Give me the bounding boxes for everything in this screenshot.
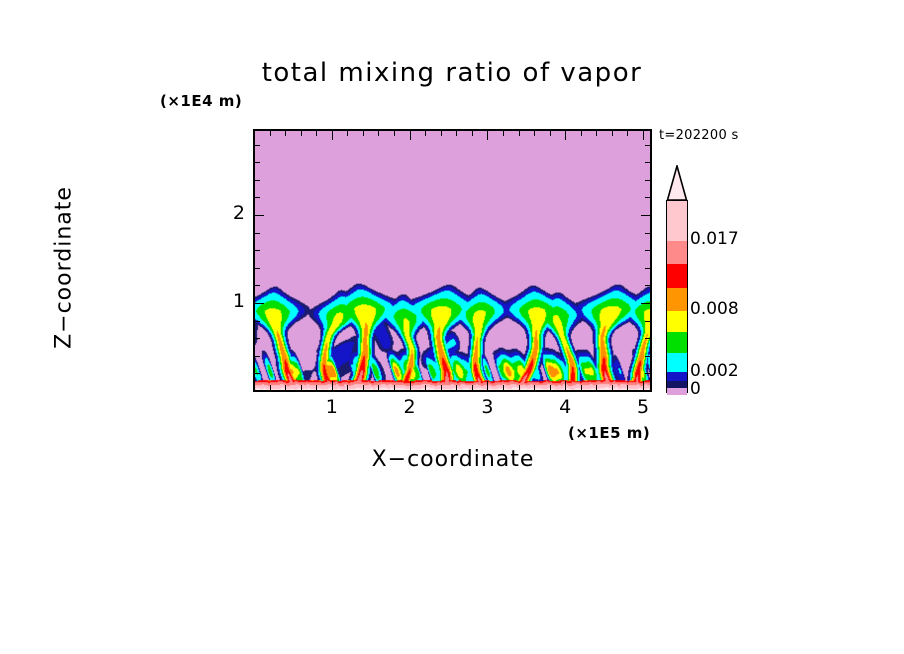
x-minor-tick-bottom <box>627 385 628 390</box>
x-major-tick-bottom <box>410 381 411 390</box>
colorbar-band-0.011-0.014 <box>667 241 687 265</box>
x-minor-tick-bottom <box>378 385 379 390</box>
y-minor-tick-right <box>645 321 650 322</box>
y-axis-unit-label: (×1E4 m) <box>160 92 242 110</box>
y-minor-tick-right <box>645 285 650 286</box>
y-minor-tick-left <box>255 145 260 146</box>
colorbar-band-0.004-0.006 <box>667 311 687 333</box>
colorbar-tick-label: 0 <box>690 379 701 399</box>
x-minor-tick-top <box>550 131 551 136</box>
x-major-tick-bottom <box>487 381 488 390</box>
y-minor-tick-left <box>255 250 260 251</box>
x-minor-tick-top <box>378 131 379 136</box>
y-axis-title: Z−coordinate <box>52 158 77 378</box>
y-minor-tick-left <box>255 197 260 198</box>
x-minor-tick-bottom <box>363 385 364 390</box>
x-minor-tick-bottom <box>394 385 395 390</box>
y-minor-tick-right <box>645 233 650 234</box>
y-major-tick-left <box>255 303 264 304</box>
x-tick-label: 1 <box>320 396 344 418</box>
x-minor-tick-bottom <box>347 385 348 390</box>
colorbar-bands <box>666 200 688 393</box>
timestamp-annotation: t=202200 s <box>659 128 739 143</box>
x-major-tick-top <box>487 131 488 140</box>
x-minor-tick-bottom <box>534 385 535 390</box>
colorbar <box>666 165 688 393</box>
x-minor-tick-bottom <box>425 385 426 390</box>
x-tick-label: 5 <box>631 396 655 418</box>
colorbar-band-0.014-0.017 <box>667 201 687 242</box>
x-major-tick-bottom <box>643 381 644 390</box>
x-minor-tick-top <box>441 131 442 136</box>
x-minor-tick-top <box>363 131 364 136</box>
x-minor-tick-top <box>270 131 271 136</box>
y-minor-tick-right <box>645 373 650 374</box>
y-minor-tick-left <box>255 321 260 322</box>
x-axis-unit-label: (×1E5 m) <box>568 424 650 442</box>
x-major-tick-bottom <box>565 381 566 390</box>
y-minor-tick-left <box>255 338 260 339</box>
y-minor-tick-left <box>255 162 260 163</box>
colorbar-band-0.006-0.008 <box>667 288 687 312</box>
y-minor-tick-left <box>255 233 260 234</box>
x-minor-tick-top <box>301 131 302 136</box>
y-major-tick-right <box>641 303 650 304</box>
x-minor-tick-top <box>534 131 535 136</box>
y-minor-tick-right <box>645 268 650 269</box>
x-major-tick-top <box>565 131 566 140</box>
x-tick-label: 3 <box>475 396 499 418</box>
y-minor-tick-right <box>645 356 650 357</box>
x-minor-tick-bottom <box>441 385 442 390</box>
y-minor-tick-left <box>255 180 260 181</box>
y-minor-tick-right <box>645 145 650 146</box>
y-minor-tick-right <box>645 338 650 339</box>
y-major-tick-left <box>255 215 264 216</box>
x-tick-label: 4 <box>553 396 577 418</box>
colorbar-extend-arrow-icon <box>666 165 688 201</box>
x-minor-tick-bottom <box>316 385 317 390</box>
x-minor-tick-top <box>519 131 520 136</box>
x-minor-tick-bottom <box>301 385 302 390</box>
x-minor-tick-bottom <box>581 385 582 390</box>
x-major-tick-top <box>643 131 644 140</box>
colorbar-tick-label: 0.002 <box>690 361 739 381</box>
colorbar-band-0.001-0.002 <box>667 353 687 373</box>
x-minor-tick-top <box>456 131 457 136</box>
x-minor-tick-bottom <box>503 385 504 390</box>
x-minor-tick-top <box>347 131 348 136</box>
y-minor-tick-right <box>645 162 650 163</box>
y-tick-label: 1 <box>225 290 245 312</box>
y-minor-tick-right <box>645 180 650 181</box>
x-minor-tick-bottom <box>612 385 613 390</box>
y-minor-tick-right <box>645 197 650 198</box>
colorbar-band-0.008-0.011 <box>667 264 687 289</box>
vapor-mixing-ratio-field <box>255 131 650 390</box>
colorbar-band-0 <box>667 388 687 395</box>
colorbar-band-0.002-0.004 <box>667 332 687 354</box>
x-minor-tick-bottom <box>519 385 520 390</box>
x-minor-tick-bottom <box>456 385 457 390</box>
y-minor-tick-left <box>255 268 260 269</box>
y-major-tick-right <box>641 215 650 216</box>
y-minor-tick-left <box>255 356 260 357</box>
x-major-tick-bottom <box>332 381 333 390</box>
x-minor-tick-top <box>285 131 286 136</box>
x-minor-tick-bottom <box>596 385 597 390</box>
x-minor-tick-top <box>612 131 613 136</box>
figure-root: total mixing ratio of vapor (×1E4 m) t=2… <box>0 0 904 654</box>
colorbar-tick-label: 0.008 <box>690 299 739 319</box>
y-tick-label: 2 <box>225 202 245 224</box>
y-minor-tick-left <box>255 285 260 286</box>
x-minor-tick-bottom <box>550 385 551 390</box>
x-minor-tick-bottom <box>285 385 286 390</box>
x-major-tick-top <box>332 131 333 140</box>
x-minor-tick-top <box>472 131 473 136</box>
x-minor-tick-bottom <box>472 385 473 390</box>
y-minor-tick-right <box>645 250 650 251</box>
x-axis-title: X−coordinate <box>253 447 653 472</box>
page-title: total mixing ratio of vapor <box>0 58 904 88</box>
x-major-tick-top <box>410 131 411 140</box>
x-minor-tick-bottom <box>270 385 271 390</box>
x-minor-tick-top <box>581 131 582 136</box>
x-minor-tick-top <box>627 131 628 136</box>
contour-plot-panel <box>253 129 652 392</box>
colorbar-tick-label: 0.017 <box>690 229 739 249</box>
x-minor-tick-top <box>394 131 395 136</box>
x-minor-tick-top <box>503 131 504 136</box>
x-minor-tick-top <box>425 131 426 136</box>
x-tick-label: 2 <box>398 396 422 418</box>
x-minor-tick-top <box>596 131 597 136</box>
x-minor-tick-top <box>316 131 317 136</box>
y-minor-tick-left <box>255 373 260 374</box>
